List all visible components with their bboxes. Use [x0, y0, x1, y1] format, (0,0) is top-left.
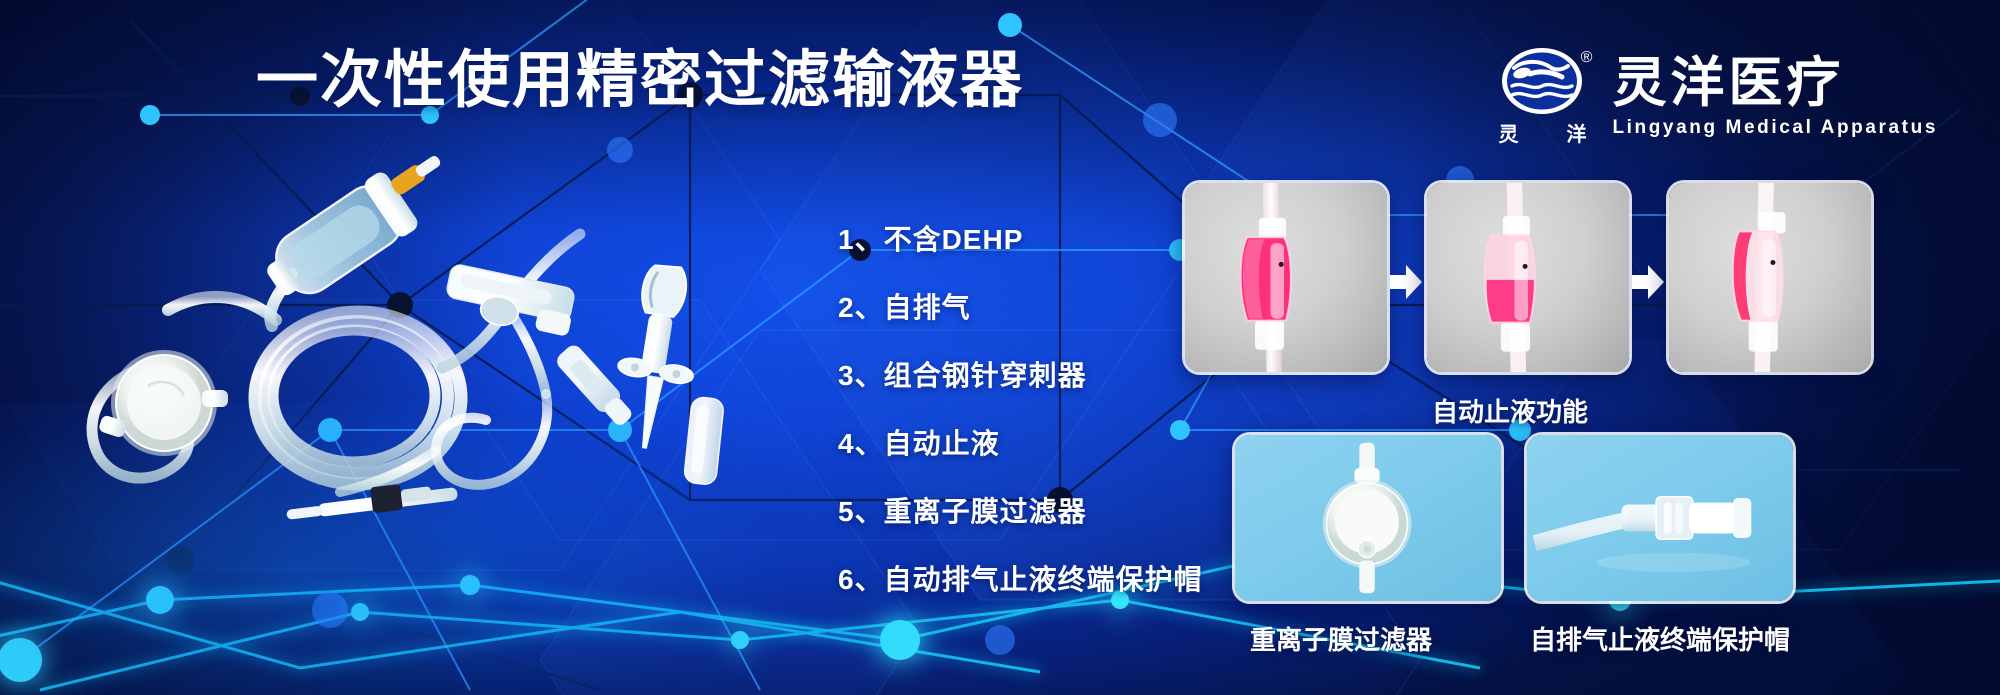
round-filter	[98, 350, 228, 456]
company-name-en: Lingyang Medical Apparatus	[1612, 117, 1938, 139]
feature-item-2: 2、自排气	[838, 286, 1203, 326]
injection-port	[554, 342, 638, 431]
caption-heavy-ion-membrane-filter: 重离子膜过滤器	[1250, 620, 1432, 657]
photo-chamber-full	[1182, 180, 1390, 375]
feature-item-1: 1、不含DEHP	[838, 218, 1203, 258]
chamber-full-illustration	[1185, 183, 1387, 372]
banner-title: 一次性使用精密过滤输液器	[256, 50, 1024, 112]
logo-emblem-group: ® 灵 洋	[1494, 46, 1590, 148]
feature-item-4: 4、自动止液	[838, 422, 1203, 462]
logo-mark-char-left: 灵	[1498, 118, 1518, 147]
photo-heavy-ion-membrane-filter	[1232, 432, 1504, 604]
feature-item-6: 6、自动排气止液终端保护帽	[838, 558, 1203, 598]
photo-terminal-protective-cap	[1524, 432, 1796, 604]
protective-cap	[683, 396, 724, 485]
drip-chamber	[255, 150, 464, 312]
logo-text-group: 灵洋医疗 Lingyang Medical Apparatus	[1612, 55, 1938, 139]
photo-chamber-empty	[1666, 180, 1874, 375]
chamber-empty-illustration	[1669, 183, 1871, 372]
wave-swimmer-emblem-icon	[1500, 46, 1584, 116]
product-banner: 一次性使用精密过滤输液器 ® 灵 洋 灵洋医疗 Lingyang Medical…	[0, 0, 2000, 695]
logo-mark-char-right: 洋	[1566, 118, 1586, 147]
membrane-filter-illustration	[1235, 435, 1501, 601]
terminal-cap-illustration	[1527, 435, 1793, 601]
feature-item-3: 3、组合钢针穿刺器	[838, 354, 1203, 394]
feature-list: 1、不含DEHP 2、自排气 3、组合钢针穿刺器 4、自动止液 5、重离子膜过滤…	[838, 218, 1203, 598]
chamber-half-illustration	[1427, 183, 1629, 372]
product-hero-image	[40, 150, 800, 550]
photo-chamber-half	[1424, 180, 1632, 375]
company-name-cn: 灵洋医疗	[1612, 55, 1938, 112]
company-logo: ® 灵 洋 灵洋医疗 Lingyang Medical Apparatus	[1494, 46, 1938, 148]
caption-terminal-protective-cap: 自排气止液终端保护帽	[1530, 620, 1790, 657]
registered-trademark-icon: ®	[1581, 50, 1593, 66]
caption-auto-stop-function: 自动止液功能	[1432, 392, 1588, 429]
roller-clamp	[442, 263, 578, 339]
feature-item-5: 5、重离子膜过滤器	[838, 490, 1203, 530]
arrow-right-icon-1	[1386, 262, 1424, 302]
arrow-right-icon-2	[1628, 262, 1666, 302]
